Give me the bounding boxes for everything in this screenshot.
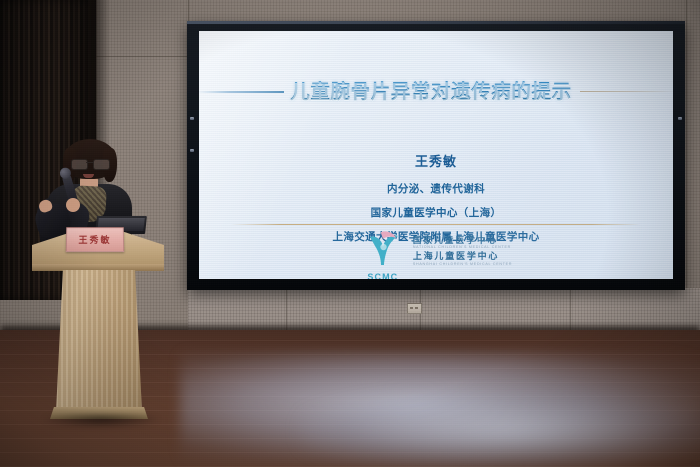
logo-cn-line-2: 上海儿童医学中心 <box>413 252 512 261</box>
logo-en-line-2: SHANGHAI CHILDREN'S MEDICAL CENTER <box>413 262 512 266</box>
speaker-hand-right <box>66 198 80 212</box>
projection-screen: 儿童腕骨片异常对遗传病的提示 王秀敏 内分泌、遗传代谢科 国家儿童医学中心（上海… <box>199 31 673 279</box>
scmc-wordmark: SCMC <box>360 273 406 279</box>
podium-lip <box>32 264 164 271</box>
speaker-glasses <box>71 159 110 168</box>
slide-title: 儿童腕骨片异常对遗传病的提示 <box>290 75 571 104</box>
podium-name-card-text: 王秀敏 <box>78 233 111 246</box>
wall-seam <box>188 0 189 22</box>
scmc-logo: SCMC 国家儿童医学中心 NATIONAL CHILDREN'S MEDICA… <box>199 231 673 271</box>
affiliation-line-1: 内分泌、遗传代谢科 <box>199 181 673 196</box>
logo-en-line-1: NATIONAL CHILDREN'S MEDICAL CENTER <box>413 245 512 249</box>
bezel-indicator <box>678 117 682 120</box>
podium-body <box>56 270 142 412</box>
presenter-name: 王秀敏 <box>199 151 673 170</box>
wall-seam <box>686 0 687 330</box>
projection-screen-frame: 儿童腕骨片异常对遗传病的提示 王秀敏 内分泌、遗传代谢科 国家儿童医学中心（上海… <box>187 21 685 290</box>
podium-name-card: 王秀敏 <box>66 227 125 252</box>
scmc-y-mark-icon: SCMC <box>360 231 406 271</box>
title-rule-left-decoration <box>199 91 284 93</box>
bezel-indicator <box>190 149 194 152</box>
logo-text-block: 国家儿童医学中心 NATIONAL CHILDREN'S MEDICAL CEN… <box>413 236 512 266</box>
slide-title-row: 儿童腕骨片异常对遗传病的提示 <box>199 75 673 104</box>
projector-light-reflection-core <box>300 392 700 467</box>
logo-cn-line-1: 国家儿童医学中心 <box>413 236 512 245</box>
wall-outlet <box>407 303 422 314</box>
slide-divider <box>231 224 641 225</box>
podium-shadow <box>42 414 160 428</box>
title-rule-right-decoration <box>580 91 673 93</box>
affiliation-line-2: 国家儿童医学中心（上海） <box>199 205 673 220</box>
conference-photo-scene: 儿童腕骨片异常对遗传病的提示 王秀敏 内分泌、遗传代谢科 国家儿童医学中心（上海… <box>0 0 700 467</box>
bezel-indicator <box>190 117 194 120</box>
